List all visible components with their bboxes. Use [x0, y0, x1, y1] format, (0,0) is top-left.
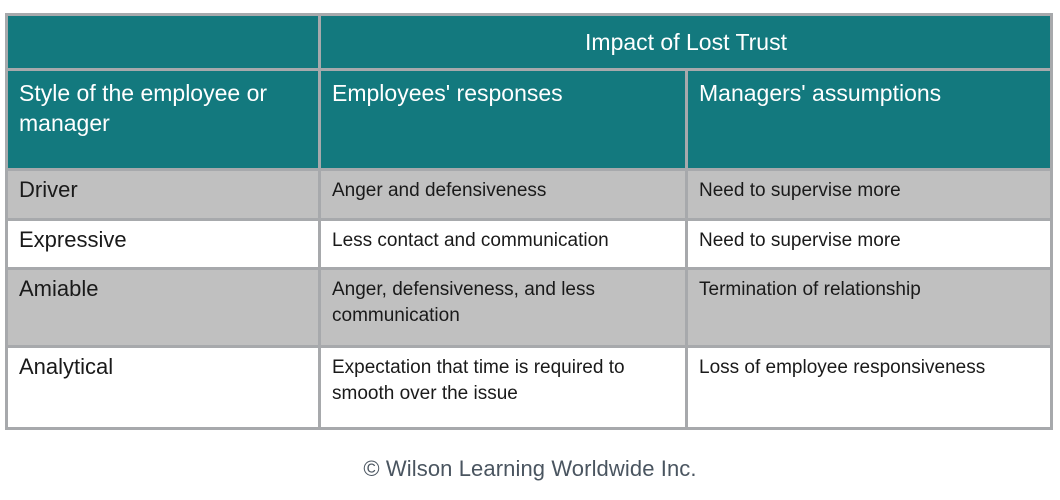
cell-assumption-expressive: Need to supervise more — [687, 220, 1052, 269]
table-head: Impact of Lost Trust Style of the employ… — [7, 15, 1052, 170]
table-row: Amiable Anger, defensiveness, and less c… — [7, 269, 1052, 347]
cell-assumption-driver: Need to supervise more — [687, 170, 1052, 220]
cell-style-analytical: Analytical — [7, 347, 320, 429]
table-container: Impact of Lost Trust Style of the employ… — [5, 13, 1050, 430]
copyright-credit: © Wilson Learning Worldwide Inc. — [0, 456, 1060, 482]
cell-assumption-amiable: Termination of relationship — [687, 269, 1052, 347]
table-row: Driver Anger and defensiveness Need to s… — [7, 170, 1052, 220]
table-header-row-columns: Style of the employee or manager Employe… — [7, 70, 1052, 170]
column-header-employees-responses: Employees' responses — [320, 70, 687, 170]
cell-response-driver: Anger and defensiveness — [320, 170, 687, 220]
cell-response-analytical: Expectation that time is required to smo… — [320, 347, 687, 429]
table-row: Analytical Expectation that time is requ… — [7, 347, 1052, 429]
cell-style-expressive: Expressive — [7, 220, 320, 269]
cell-style-amiable: Amiable — [7, 269, 320, 347]
cell-style-driver: Driver — [7, 170, 320, 220]
table-page: Impact of Lost Trust Style of the employ… — [0, 0, 1060, 500]
impact-of-lost-trust-table: Impact of Lost Trust Style of the employ… — [5, 13, 1053, 430]
table-row: Expressive Less contact and communicatio… — [7, 220, 1052, 269]
cell-assumption-analytical: Loss of employee responsiveness — [687, 347, 1052, 429]
header-cell-impact-of-lost-trust: Impact of Lost Trust — [320, 15, 1052, 70]
table-body: Driver Anger and defensiveness Need to s… — [7, 170, 1052, 429]
column-header-style: Style of the employee or manager — [7, 70, 320, 170]
header-cell-empty-corner — [7, 15, 320, 70]
cell-response-expressive: Less contact and communication — [320, 220, 687, 269]
table-header-row-group: Impact of Lost Trust — [7, 15, 1052, 70]
cell-response-amiable: Anger, defensiveness, and less communica… — [320, 269, 687, 347]
column-header-managers-assumptions: Managers' assumptions — [687, 70, 1052, 170]
